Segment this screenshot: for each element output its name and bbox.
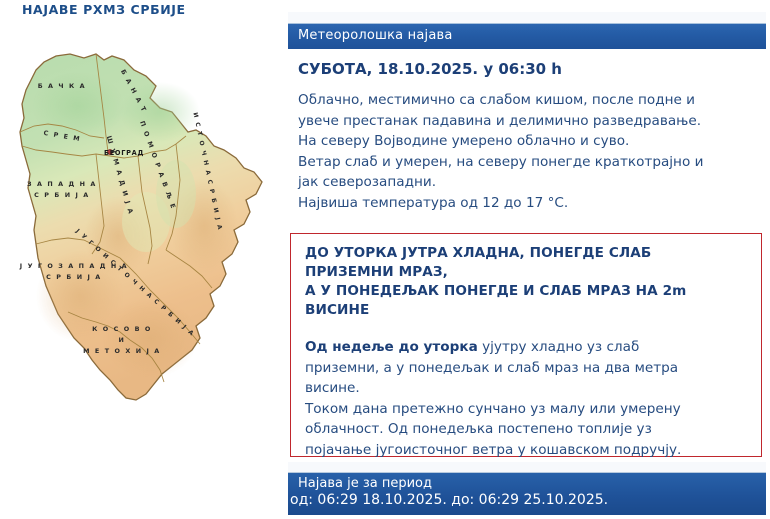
map-label-zapadna-srbija-line2: С Р Б И Ј А [34,191,90,199]
warning-body-line: Током дана претежно сунчано уз малу или … [305,399,755,420]
validity-period-bar: Најава је за период од: 06:29 18.10.2025… [288,473,766,515]
footer-top-band [288,462,766,473]
forecast-line: увече престанак падавина и делимично раз… [298,111,768,132]
warning-heading-line: ПРИЗЕМНИ МРАЗ, [305,263,755,282]
warning-heading-line: А У ПОНЕДЕЉАК ПОНЕГДЕ И СЛАБ МРАЗ НА 2m [305,282,755,301]
map-label-backa: Б А Ч К А [38,82,86,90]
forecast-date-heading: СУБОТА, 18.10.2025. у 06:30 h [298,60,562,78]
warning-body-line: појачање југоисточног ветра у кошавском … [305,440,755,461]
section-header-title: Метеоролошка најава [288,24,766,43]
forecast-text: Облачно, местимично са слабом кишом, пос… [298,90,768,213]
forecast-line: На северу Војводине умерено облачно и су… [298,131,768,152]
page-title: НАЈАВЕ РХМЗ СРБИЈЕ [22,2,186,17]
validity-period-range: од: 06:29 18.10.2025. до: 06:29 25.10.20… [288,491,766,508]
map-label-kosovo-line2: И [119,336,126,344]
serbia-map-svg: Б А Ч К А Б А Н А Т С Р Е М БЕОГРАД З А … [0,26,284,421]
map-label-zapadna-srbija-line1: З А П А Д Н А [27,180,97,188]
serbia-map-panel: Б А Ч К А Б А Н А Т С Р Е М БЕОГРАД З А … [0,26,284,421]
header-top-band [288,12,766,24]
warning-body: Од недеље до уторка ујутру хладно уз сла… [305,337,755,460]
map-label-kosovo-line1: К О С О В О [92,325,152,333]
warning-body-line: приземни, а у понедељак и слаб мраз на д… [305,358,755,379]
section-header-bar: Метеоролошка најава [288,24,766,49]
warning-heading-line: ВИСИНЕ [305,301,755,320]
map-label-kosovo-line3: М Е Т О Х И Ј А [83,347,161,355]
warning-body-line-rest: ујутру хладно уз слаб [478,339,640,355]
warning-heading-line: ДО УТОРКА ЈУТРА ХЛАДНА, ПОНЕГДЕ СЛАБ [305,244,755,263]
warning-body-line: облачност. Од понедељка постепено топлиј… [305,419,755,440]
forecast-line: Облачно, местимично са слабом кишом, пос… [298,90,768,111]
forecast-content-panel: Метеоролошка најава СУБОТА, 18.10.2025. … [288,0,770,519]
warning-body-line: Од недеље до уторка ујутру хладно уз сла… [305,337,755,358]
weather-warning-box: ДО УТОРКА ЈУТРА ХЛАДНА, ПОНЕГДЕ СЛАБ ПРИ… [290,233,762,457]
warning-heading: ДО УТОРКА ЈУТРА ХЛАДНА, ПОНЕГДЕ СЛАБ ПРИ… [305,244,755,320]
forecast-line: Ветар слаб и умерен, на северу понегде к… [298,152,768,173]
forecast-line: јак северозападни. [298,172,768,193]
warning-body-line: висине. [305,378,755,399]
warning-body-lead: Од недеље до уторка [305,339,478,355]
validity-period-label: Најава је за период [288,473,766,491]
map-label-jugozapadna-srbija-line2: С Р Б И Ј А [46,273,102,281]
forecast-line: Највиша температура од 12 до 17 °C. [298,193,768,214]
